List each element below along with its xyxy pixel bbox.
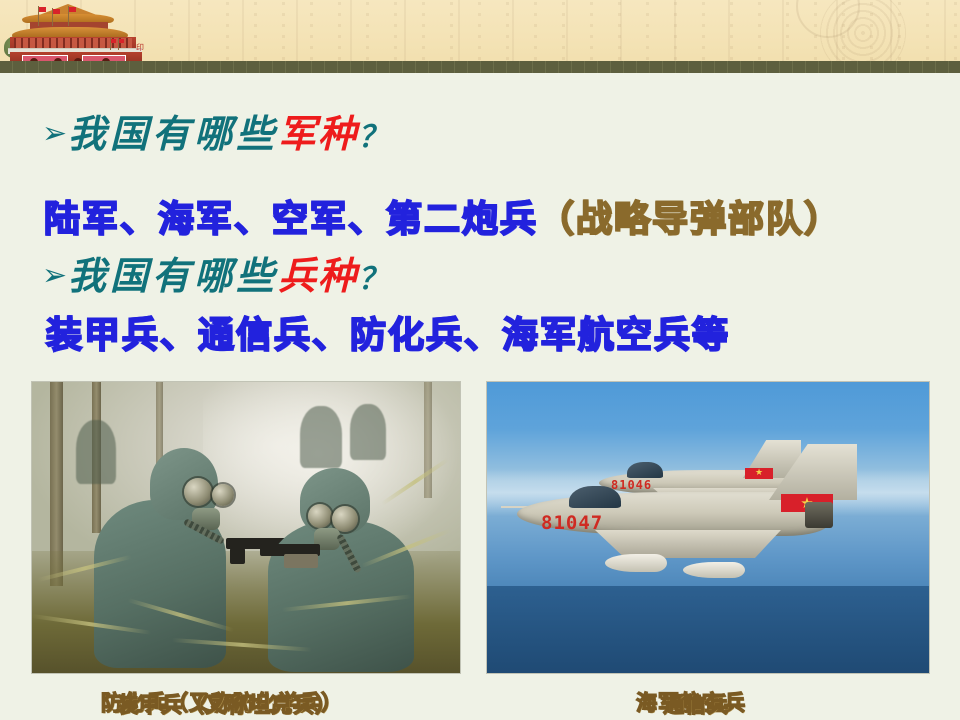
red-seal-stamp-icon: 印 xyxy=(136,42,152,53)
external-store xyxy=(683,562,745,578)
right-photo-caption-b: 通信兵 xyxy=(663,689,729,719)
tree-trunk xyxy=(424,382,432,498)
jet-tail-number: 81046 xyxy=(611,478,652,492)
slide-header-banner: 印 xyxy=(0,0,960,73)
gas-mask-lens xyxy=(212,484,234,506)
question-2-mark: ？ xyxy=(358,262,388,297)
gas-mask-lens xyxy=(308,504,332,528)
question-1-emphasis: 军种 xyxy=(278,112,358,156)
left-photo-caption-b: 装甲兵（又称坦克兵） xyxy=(117,689,337,719)
red-flag-icon xyxy=(119,39,124,43)
answer-line-2: 装甲兵、通信兵、防化兵、海军航空兵等 xyxy=(46,318,730,354)
external-store xyxy=(605,554,667,572)
question-2-prefix: 我国有哪些 xyxy=(68,254,278,298)
pistol-grip xyxy=(230,548,245,564)
question-1-mark: ？ xyxy=(358,120,388,155)
jet-canopy xyxy=(569,486,621,508)
answer-1-parenthetical: （战略导弹部队） xyxy=(538,199,842,240)
red-flag-icon xyxy=(53,9,60,14)
question-line-2: ➢我国有哪些兵种？ xyxy=(42,257,388,295)
red-flag-icon xyxy=(111,39,116,43)
brick-strip-divider xyxy=(0,61,960,73)
question-1-prefix: 我国有哪些 xyxy=(68,112,278,156)
arrow-bullet-icon: ➢ xyxy=(42,261,68,291)
tiananmen-gate-illustration: 印 xyxy=(8,2,156,66)
star-icon: ★ xyxy=(755,469,763,478)
rifle-scope xyxy=(284,554,318,568)
red-flag-icon xyxy=(69,7,76,12)
distant-soldier xyxy=(300,406,342,468)
question-line-1: ➢我国有哪些军种？ xyxy=(42,115,388,153)
sea-surface xyxy=(487,586,929,673)
jet-exhaust xyxy=(805,502,833,528)
question-2-emphasis: 兵种 xyxy=(278,254,358,298)
answer-1-main: 陆军、海军、空军、第二炮兵 xyxy=(44,199,538,240)
answer-line-1: 陆军、海军、空军、第二炮兵（战略导弹部队） xyxy=(44,202,842,238)
chemical-defence-troops-photo xyxy=(32,382,460,673)
jet-canopy xyxy=(627,462,663,478)
arrow-bullet-icon: ➢ xyxy=(42,119,68,149)
naval-aviation-jets-photo: ★ 81046 ★ 81047 xyxy=(487,382,929,673)
red-flag-icon xyxy=(39,7,46,12)
red-star-insignia: ★ xyxy=(745,468,773,479)
jet-tail-number: 81047 xyxy=(541,512,603,534)
distant-soldier xyxy=(76,420,116,484)
gas-mask-lens xyxy=(184,478,212,506)
distant-soldier xyxy=(350,404,386,460)
